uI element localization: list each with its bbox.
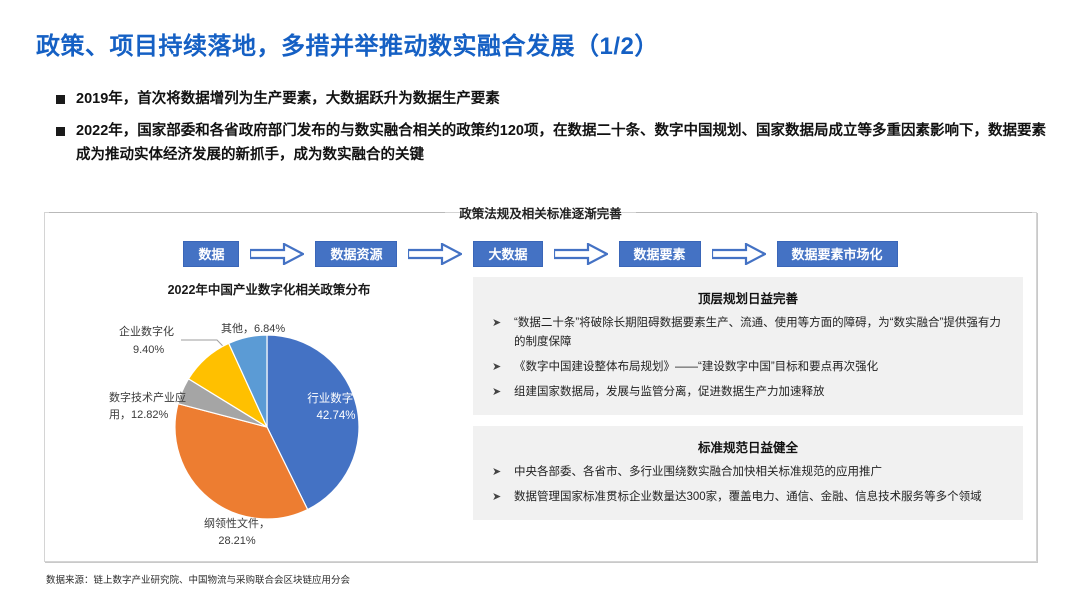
flow-step-data-element[interactable]: 数据要素 xyxy=(619,241,701,267)
pie-label-digital-tech-industry-value: 用，12.82% xyxy=(109,409,169,421)
panel-item-text: 《数字中国建设整体布局规划》——“建设数字中国”目标和要点再次强化 xyxy=(514,358,878,377)
pie-label-programmatic-documents-value: 28.21% xyxy=(218,535,256,547)
pie-label-industry-digitalization-value: 42.74% xyxy=(316,410,355,422)
chevron-right-icon: ➤ xyxy=(489,358,514,376)
list-item: ➤ 组建国家数据局，发展与监管分离，促进数据生产力加速释放 xyxy=(489,383,1007,402)
arrow-right-icon xyxy=(250,243,304,265)
arrow-right-icon xyxy=(408,243,462,265)
slide-root: 政策、项目持续落地，多措并举推动数实融合发展（1/2） 2019年，首次将数据增… xyxy=(0,0,1080,607)
info-panels: 顶层规划日益完善 ➤ “数据二十条”将破除长期阻碍数据要素生产、流通、使用等方面… xyxy=(473,277,1023,520)
divider: 政策法规及相关标准逐渐完善 xyxy=(45,203,1036,222)
list-item: ➤ 《数字中国建设整体布局规划》——“建设数字中国”目标和要点再次强化 xyxy=(489,358,1007,377)
pie-label-enterprise-digitalization-name: 企业数字化 xyxy=(119,324,174,338)
panel-item-text: 数据管理国家标准贯标企业数量达300家，覆盖电力、通信、金融、信息技术服务等多个… xyxy=(514,488,982,507)
content-card: 政策法规及相关标准逐渐完善 数据 数据资源 大数据 xyxy=(44,212,1037,562)
pie-slices xyxy=(175,335,359,519)
list-item: ➤ 数据管理国家标准贯标企业数量达300家，覆盖电力、通信、金融、信息技术服务等… xyxy=(489,488,1007,507)
panel-heading: 顶层规划日益完善 xyxy=(489,288,1007,307)
arrow-right-icon xyxy=(554,243,608,265)
chevron-right-icon: ➤ xyxy=(489,383,514,401)
panel-standards: 标准规范日益健全 ➤ 中央各部委、各省市、多行业围绕数实融合加快相关标准规范的应… xyxy=(473,426,1023,520)
list-item: ➤ “数据二十条”将破除长期阻碍数据要素生产、流通、使用等方面的障碍，为“数实融… xyxy=(489,314,1007,352)
panel-item-text: 中央各部委、各省市、多行业围绕数实融合加快相关标准规范的应用推广 xyxy=(514,463,882,482)
panel-item-text: 组建国家数据局，发展与监管分离，促进数据生产力加速释放 xyxy=(514,383,825,402)
bullet-text: 2019年，首次将数据增列为生产要素，大数据跃升为数据生产要素 xyxy=(76,88,500,111)
panel-heading: 标准规范日益健全 xyxy=(489,437,1007,456)
square-bullet-icon xyxy=(56,95,65,104)
pie-label-programmatic-documents-name: 纲领性文件， xyxy=(204,516,270,530)
pie-label-industry-digitalization-name: 行业数字化 xyxy=(307,391,365,405)
pie-canvas: 行业数字化 42.74% 纲领性文件， 28.21% 数字技术产业应 用，12.… xyxy=(59,295,479,549)
pie-label-digital-tech-industry-name: 数字技术产业应 xyxy=(109,390,186,404)
flow-step-data-resource[interactable]: 数据资源 xyxy=(315,241,397,267)
divider-line-left xyxy=(49,212,445,213)
flow-diagram: 数据 数据资源 大数据 数据要素 xyxy=(45,241,1036,267)
bullet-list: 2019年，首次将数据增列为生产要素，大数据跃升为数据生产要素 2022年，国家… xyxy=(56,88,1056,176)
pie-chart: 2022年中国产业数字化相关政策分布 xyxy=(59,279,479,549)
square-bullet-icon xyxy=(56,127,65,136)
panel-top-level-planning: 顶层规划日益完善 ➤ “数据二十条”将破除长期阻碍数据要素生产、流通、使用等方面… xyxy=(473,277,1023,415)
flow-step-data-marketization[interactable]: 数据要素市场化 xyxy=(777,241,898,267)
list-item: 2022年，国家部委和各省政府部门发布的与数实融合相关的政策约120项，在数据二… xyxy=(56,120,1056,167)
flow-step-data[interactable]: 数据 xyxy=(183,241,239,267)
chevron-right-icon: ➤ xyxy=(489,314,514,332)
flow-step-big-data[interactable]: 大数据 xyxy=(473,241,542,267)
pie-label-others: 其他，6.84% xyxy=(221,322,285,335)
chevron-right-icon: ➤ xyxy=(489,463,514,481)
panel-item-text: “数据二十条”将破除长期阻碍数据要素生产、流通、使用等方面的障碍，为“数实融合”… xyxy=(514,314,1007,352)
page-title: 政策、项目持续落地，多措并举推动数实融合发展（1/2） xyxy=(36,26,659,61)
divider-caption: 政策法规及相关标准逐渐完善 xyxy=(445,203,636,222)
arrow-right-icon xyxy=(712,243,766,265)
list-item: 2019年，首次将数据增列为生产要素，大数据跃升为数据生产要素 xyxy=(56,88,1056,111)
source-note: 数据来源：链上数字产业研究院、中国物流与采购联合会区块链应用分会 xyxy=(46,572,350,586)
bullet-text: 2022年，国家部委和各省政府部门发布的与数实融合相关的政策约120项，在数据二… xyxy=(76,120,1056,167)
pie-label-enterprise-digitalization-value: 9.40% xyxy=(133,344,164,356)
chevron-right-icon: ➤ xyxy=(489,488,514,506)
list-item: ➤ 中央各部委、各省市、多行业围绕数实融合加快相关标准规范的应用推广 xyxy=(489,463,1007,482)
divider-line-right xyxy=(636,212,1032,213)
